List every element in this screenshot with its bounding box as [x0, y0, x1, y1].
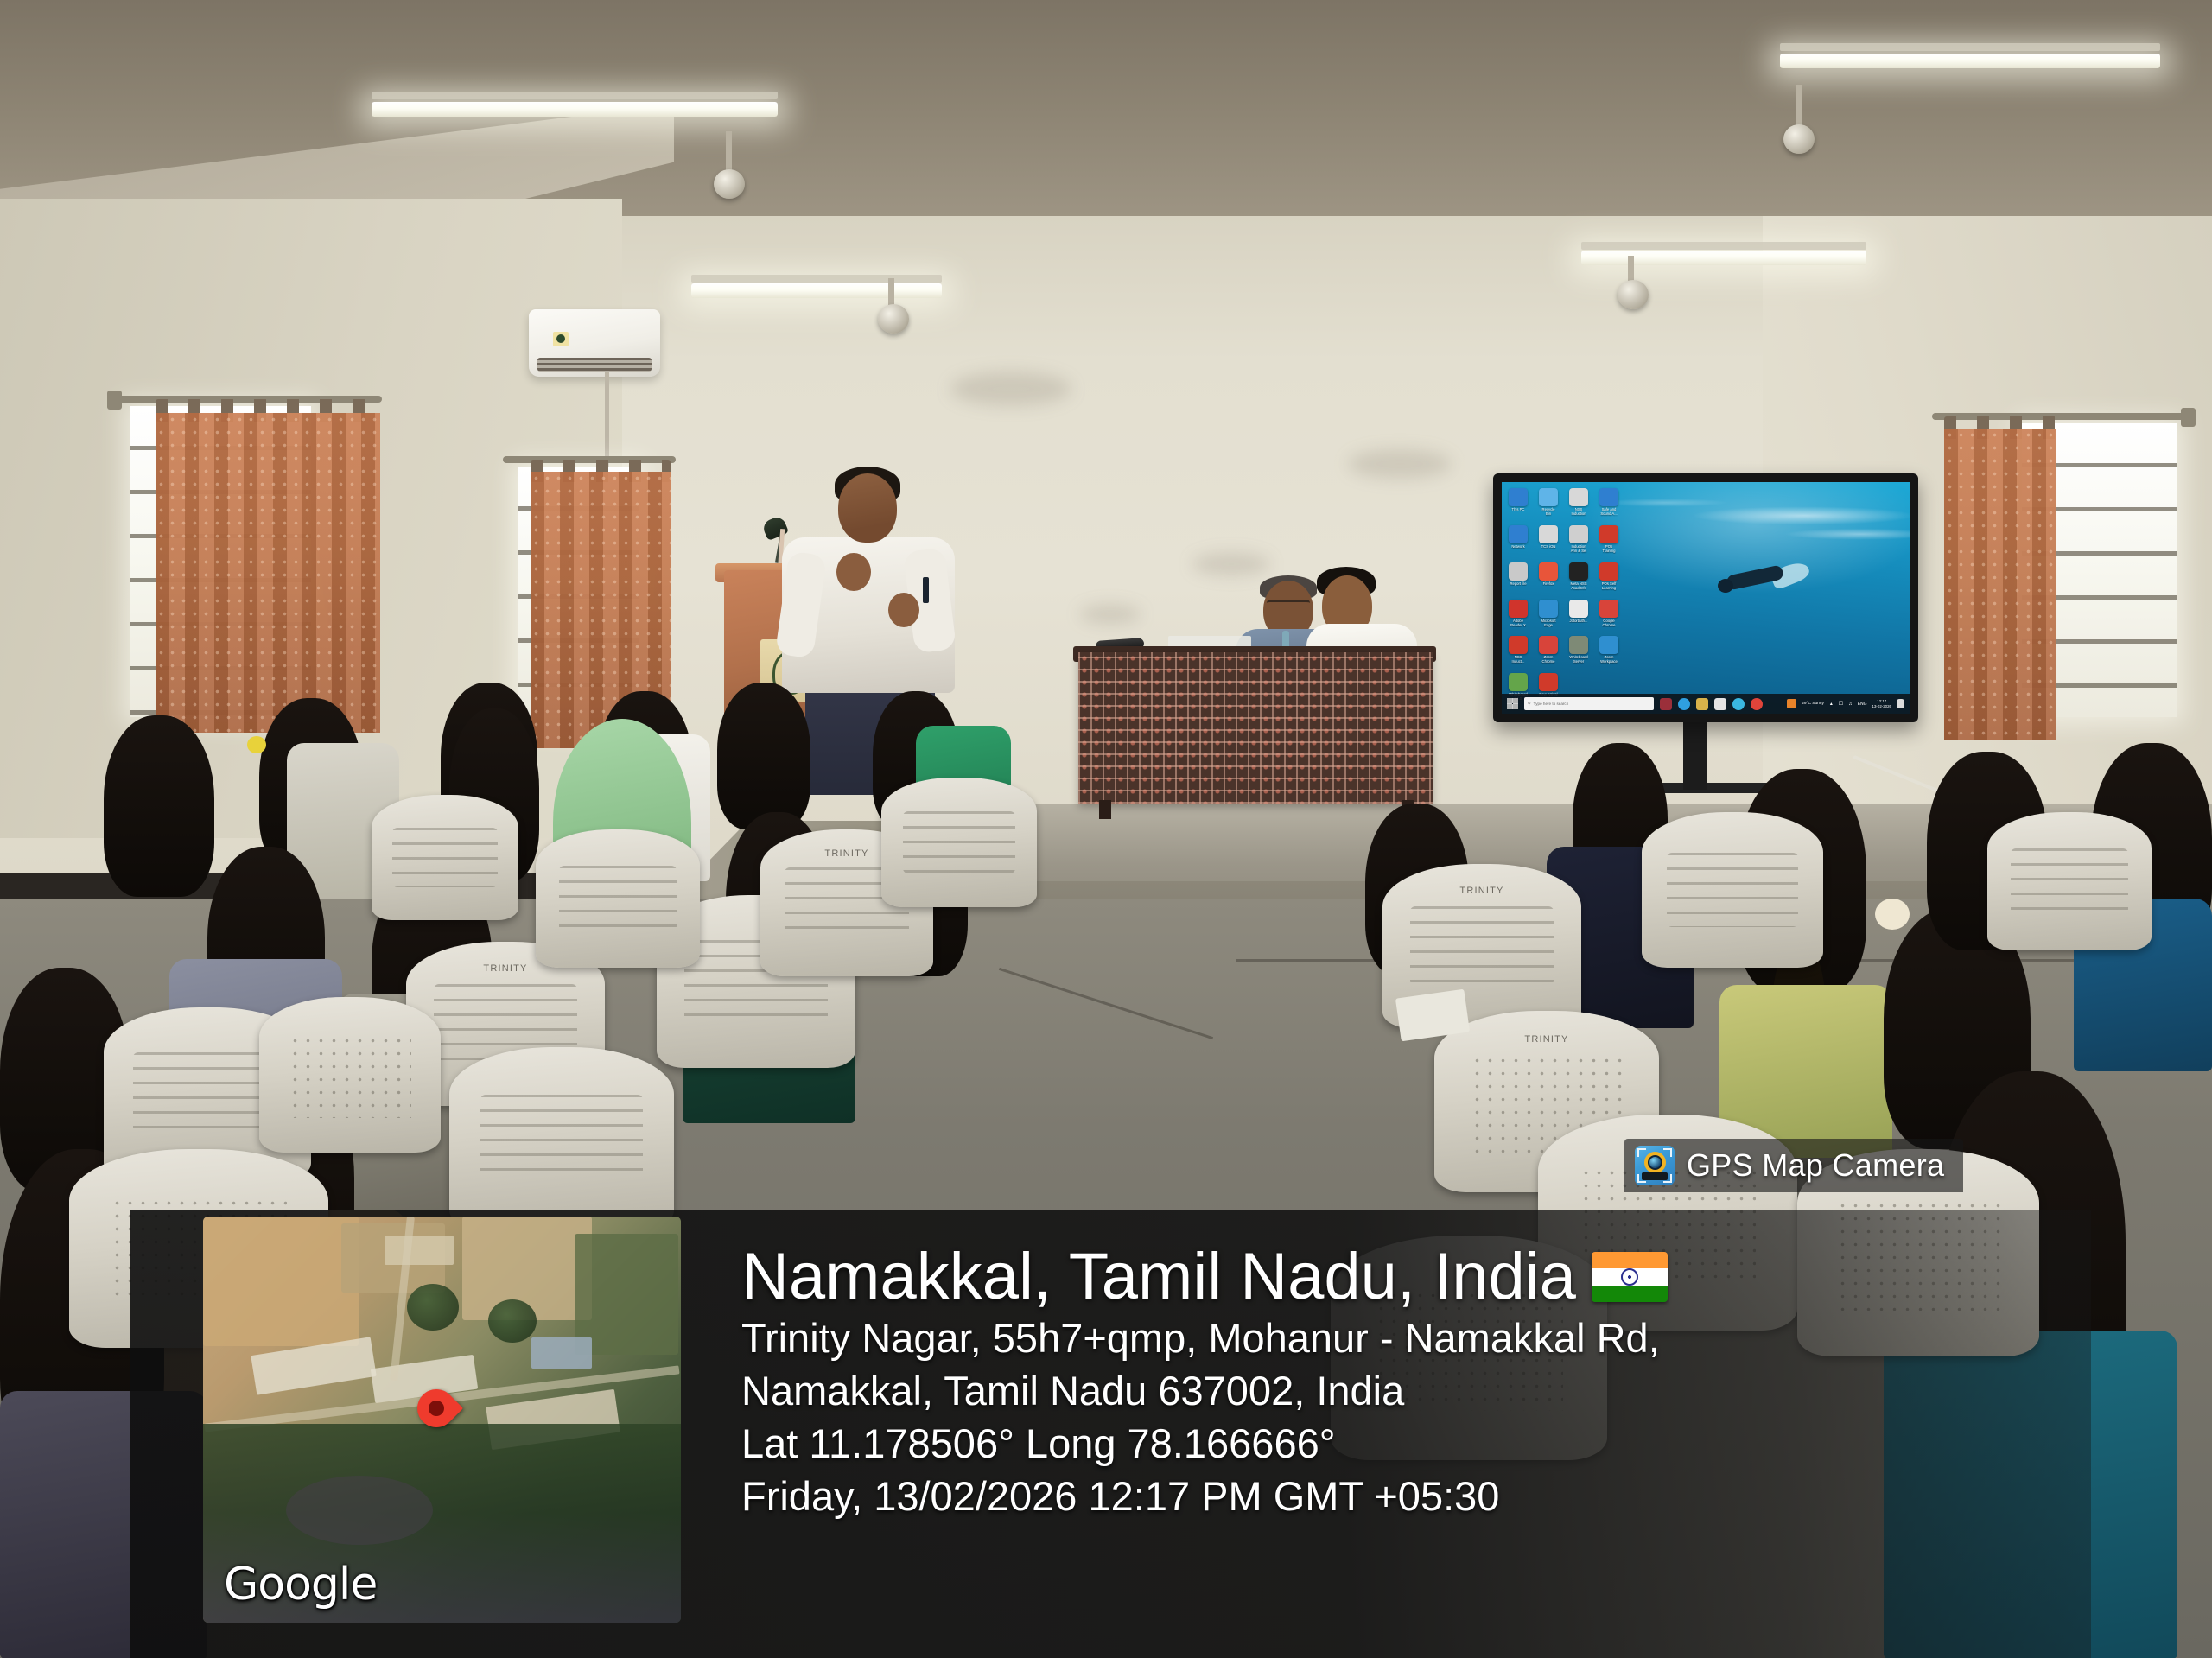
desktop-icon-label: Report file	[1509, 581, 1528, 586]
fan-mount-ball	[1618, 280, 1649, 309]
taskbar-icon-edge[interactable]	[1678, 698, 1690, 710]
ceiling-tube-light	[1581, 251, 1866, 265]
gps-map-camera-app-icon	[1635, 1146, 1675, 1185]
desktop-icon-label: This PC	[1509, 507, 1528, 511]
wall-stain	[1080, 605, 1141, 624]
windows-start-icon[interactable]	[1507, 698, 1518, 709]
chair-brand-label: TRINITY	[1434, 1034, 1659, 1045]
curtain-texture	[156, 413, 380, 733]
address-line-2: Namakkal, Tamil Nadu 637002, India	[741, 1364, 2089, 1417]
google-watermark: Google	[224, 1559, 377, 1610]
desktop-icon-label: NSS Induction 2k24 PPT	[1569, 507, 1588, 517]
desktop-icon-label: NSS Induct...	[1509, 655, 1528, 664]
gps-map-camera-badge: GPS Map Camera	[1624, 1139, 1963, 1192]
hair-flower	[1875, 899, 1910, 930]
desktop-icon-label: Zoom Workplace	[1599, 655, 1618, 664]
desktop-icon-label: Firefox	[1539, 581, 1558, 586]
desktop-icon-grid[interactable]: This PCRecycle BinNSS Induction 2k24 PPT…	[1509, 488, 1680, 709]
curtain	[1944, 429, 2056, 740]
table-cloth	[1078, 652, 1433, 804]
desktop-icon-label: Jotorbuth...	[1569, 619, 1588, 623]
display-stand	[1683, 722, 1707, 790]
desktop-icon-label: Adobe Reader X	[1509, 619, 1528, 628]
location-title-row: Namakkal, Tamil Nadu, India	[741, 1242, 2089, 1312]
desktop-icon[interactable]: Firefox	[1539, 562, 1558, 591]
viewfinder-corner-icon	[1637, 1148, 1646, 1157]
map-vegetation	[575, 1234, 678, 1355]
desktop-icon-image	[1599, 562, 1618, 581]
desktop-icon[interactable]: This PC	[1509, 488, 1528, 517]
desktop-icon[interactable]: Adobe Reader X	[1509, 600, 1528, 628]
fan-mount-ball	[878, 304, 909, 334]
taskbar-search-input[interactable]: ⚲ Type here to search	[1524, 697, 1654, 710]
ashoka-chakra-icon	[1621, 1268, 1638, 1286]
action-center-icon[interactable]	[1897, 699, 1904, 708]
chair-backrest-slots	[1667, 853, 1797, 927]
taskbar-weather: 29°C Sunny	[1802, 702, 1824, 706]
desktop-icon[interactable]: Network	[1509, 525, 1528, 554]
desktop-icon-label: Microsoft Edge	[1539, 619, 1558, 628]
speaker-pocket-pen	[923, 577, 929, 603]
desktop-icon-label: Meta NSS Acad Info	[1569, 581, 1588, 591]
gps-map-camera-label: GPS Map Camera	[1687, 1147, 1944, 1184]
taskbar-clock[interactable]: 12:17 13-02-2026	[1872, 699, 1891, 708]
wall-stain	[1192, 553, 1270, 575]
taskbar-icon-app3[interactable]	[1751, 698, 1763, 710]
audience-member	[717, 683, 810, 829]
chair[interactable]	[881, 778, 1037, 907]
chair-brand-label: TRINITY	[1382, 886, 1581, 896]
wall-stain	[950, 372, 1071, 406]
desktop-icon-image	[1569, 525, 1588, 543]
location-title: Namakkal, Tamil Nadu, India	[741, 1242, 1576, 1312]
taskbar-system-tray[interactable]: 29°C Sunny ▲ ☐ ♫ ENG 12:17 13-02-2026	[1787, 699, 1904, 708]
windows-taskbar[interactable]: ⚲ Type here to search 29°C Sunny ▲ ☐ ♫	[1502, 694, 1910, 714]
air-conditioner-unit	[529, 309, 660, 377]
desktop-icon-label: Recycle Bin	[1539, 507, 1558, 517]
speaker-head	[838, 473, 897, 543]
chair[interactable]	[372, 795, 518, 920]
desktop-icon[interactable]: Recycle Bin	[1539, 488, 1558, 517]
desktop-icon-image	[1569, 562, 1588, 581]
audience-member	[104, 715, 214, 897]
curtain-rod-cap	[107, 391, 122, 410]
chair[interactable]	[1642, 812, 1823, 968]
desktop-icon-image	[1539, 600, 1558, 618]
desktop-icon-image	[1509, 600, 1528, 618]
desktop-icon[interactable]: NSS Induct...	[1509, 636, 1528, 664]
desktop-icon-image	[1539, 673, 1558, 691]
fan-mount-ball	[1783, 124, 1815, 154]
curtain-rod-cap	[2181, 408, 2196, 427]
desktop-icon-label: POs Self Learning	[1599, 581, 1618, 591]
desktop-icon[interactable]: Meta NSS Acad Info	[1569, 562, 1588, 591]
desktop-icon-image	[1509, 488, 1528, 506]
speaker-hand-left	[836, 553, 871, 591]
desktop-icon[interactable]: POs Self Learning	[1599, 562, 1618, 591]
taskbar-icon-file-explorer[interactable]	[1696, 698, 1708, 710]
ceiling-tube-light	[1780, 54, 2160, 68]
map-tree	[488, 1299, 537, 1343]
gps-map-camera-photo: This PCRecycle BinNSS Induction 2k24 PPT…	[0, 0, 2212, 1658]
desktop-icon[interactable]: Google Chrome	[1599, 600, 1618, 628]
search-placeholder: Type here to search	[1534, 702, 1569, 706]
desktop-icon-image	[1509, 562, 1528, 581]
desktop-icon[interactable]: TCS iON	[1539, 525, 1558, 554]
chair-backrest-slots	[392, 828, 498, 888]
diver-head	[1718, 579, 1733, 593]
tube-light-fixture	[691, 275, 942, 283]
timestamp: Friday, 13/02/2026 12:17 PM GMT +05:30	[741, 1470, 2089, 1522]
taskbar-icon-store[interactable]	[1714, 698, 1726, 710]
desktop-icon[interactable]: Induction Ann & Sel	[1569, 525, 1588, 554]
desktop-icon-label: POs Training Handbook	[1599, 544, 1618, 554]
tube-light-fixture	[1581, 242, 1866, 250]
desktop-icon-row: NSS Induct...Zoom ChromeWhiteboard Serve…	[1509, 636, 1680, 664]
battery-icon[interactable]: ENG	[1858, 702, 1867, 707]
viewfinder-corner-icon	[1663, 1148, 1672, 1157]
desktop-icon-image	[1599, 600, 1618, 618]
desktop-icon[interactable]: Report file	[1509, 562, 1528, 591]
desktop-icon-image	[1599, 525, 1618, 543]
desktop-icon-image	[1539, 562, 1558, 581]
taskbar-icon-app2[interactable]	[1732, 698, 1745, 710]
desktop-icon-image	[1539, 488, 1558, 506]
desktop-icon-row: Adobe Reader XMicrosoft EdgeJotorbuth...…	[1509, 600, 1680, 628]
hair-flower	[247, 736, 266, 753]
ac-vent	[537, 358, 652, 372]
desktop-icon-image	[1569, 636, 1588, 654]
desktop-icon[interactable]: Microsoft Edge	[1539, 600, 1558, 628]
desktop-icon[interactable]: Jotorbuth...	[1569, 600, 1588, 628]
chair-backrest-dots	[289, 1034, 412, 1118]
desktop-icon[interactable]: Zoom Workplace	[1599, 636, 1618, 664]
wall-stain	[1348, 449, 1452, 479]
diver-wallpaper-figure	[1718, 563, 1811, 600]
flag-band-saffron	[1592, 1252, 1668, 1268]
curtain-texture	[1944, 429, 2056, 740]
chevron-up-icon[interactable]: ▲	[1829, 702, 1834, 707]
camera-body-bar	[1642, 1172, 1668, 1180]
desktop-icon[interactable]: Safe and Sound A...	[1599, 488, 1618, 517]
map-tree	[407, 1284, 459, 1331]
ceiling-tube-light	[372, 102, 778, 117]
desktop-icon-image	[1569, 488, 1588, 506]
map-building	[531, 1337, 592, 1369]
desktop-icon[interactable]: Whiteboard Server	[1569, 636, 1588, 664]
desktop-icon-row: NetworkTCS iONInduction Ann & SelPOs Tra…	[1509, 525, 1680, 554]
ac-indicator-icon	[553, 332, 569, 346]
map-tree	[286, 1476, 433, 1545]
camera-lens-icon	[1649, 1157, 1661, 1168]
speaker-hand-right	[888, 593, 919, 627]
dignitary-1-glasses	[1267, 600, 1310, 609]
desktop-icon-label: Network	[1509, 544, 1528, 549]
desktop-icon[interactable]: Zoom Chrome	[1539, 636, 1558, 664]
location-map-thumbnail[interactable]: Google	[203, 1217, 681, 1623]
desktop-icon-row: Report fileFirefoxMeta NSS Acad InfoPOs …	[1509, 562, 1680, 591]
chair-backrest-slots	[559, 866, 677, 932]
coordinates: Lat 11.178506° Long 78.166666°	[741, 1417, 2089, 1470]
address-line-1: Trinity Nagar, 55h7+qmp, Mohanur - Namak…	[741, 1312, 2089, 1364]
table-leg	[1099, 800, 1111, 819]
desktop-icon-label: Whiteboard Server	[1569, 655, 1588, 664]
weather-icon[interactable]	[1787, 699, 1796, 708]
fan-mount-ball	[714, 169, 745, 199]
chair-backrest-slots	[1410, 906, 1554, 985]
desktop-icon-image	[1509, 525, 1528, 543]
desktop-icon-label: Zoom Chrome	[1539, 655, 1558, 664]
ceiling-tube-light	[691, 283, 942, 298]
india-flag-icon	[1592, 1252, 1668, 1302]
map-building	[385, 1236, 454, 1265]
desktop-icon-row: This PCRecycle BinNSS Induction 2k24 PPT…	[1509, 488, 1680, 517]
chair[interactable]	[536, 829, 700, 968]
chair[interactable]	[259, 997, 441, 1153]
curtain	[156, 413, 380, 733]
chair-backrest-slots	[903, 811, 1015, 873]
desktop-icon-label: TCS iON	[1539, 544, 1558, 549]
desktop-icon-image	[1569, 600, 1588, 618]
desktop-icon-label: Google Chrome	[1599, 619, 1618, 628]
tube-light-fixture	[1780, 43, 2160, 51]
location-info-text: Namakkal, Tamil Nadu, India Trinity Naga…	[741, 1242, 2089, 1522]
volume-icon[interactable]: ♫	[1848, 702, 1853, 707]
desktop-icon-image	[1539, 525, 1558, 543]
desktop-icon-label: Induction Ann & Sel	[1569, 544, 1588, 554]
map-land-patch	[203, 1217, 359, 1346]
clock-date: 13-02-2026	[1872, 704, 1891, 708]
search-icon: ⚲	[1528, 702, 1531, 707]
chair-backrest-slots	[480, 1095, 642, 1182]
desktop-icon-image	[1599, 488, 1618, 506]
desktop-icon[interactable]: NSS Induction 2k24 PPT	[1569, 488, 1588, 517]
network-icon[interactable]: ☐	[1839, 701, 1843, 707]
desktop-icon-image	[1599, 636, 1618, 654]
flag-band-green	[1592, 1286, 1668, 1302]
interactive-display[interactable]: This PCRecycle BinNSS Induction 2k24 PPT…	[1493, 473, 1918, 722]
desktop-icon-image	[1509, 673, 1528, 691]
chair[interactable]	[449, 1047, 674, 1229]
display-screen[interactable]: This PCRecycle BinNSS Induction 2k24 PPT…	[1502, 482, 1910, 714]
taskbar-icon-app1[interactable]	[1660, 698, 1672, 710]
desktop-icon-label: Safe and Sound A...	[1599, 507, 1618, 517]
tube-light-fixture	[372, 92, 778, 99]
desktop-icon-image	[1509, 636, 1528, 654]
chair-backrest-slots	[2011, 848, 2129, 915]
desktop-icon[interactable]: POs Training Handbook	[1599, 525, 1618, 554]
desktop-icon-image	[1539, 636, 1558, 654]
chair[interactable]	[1987, 812, 2152, 950]
